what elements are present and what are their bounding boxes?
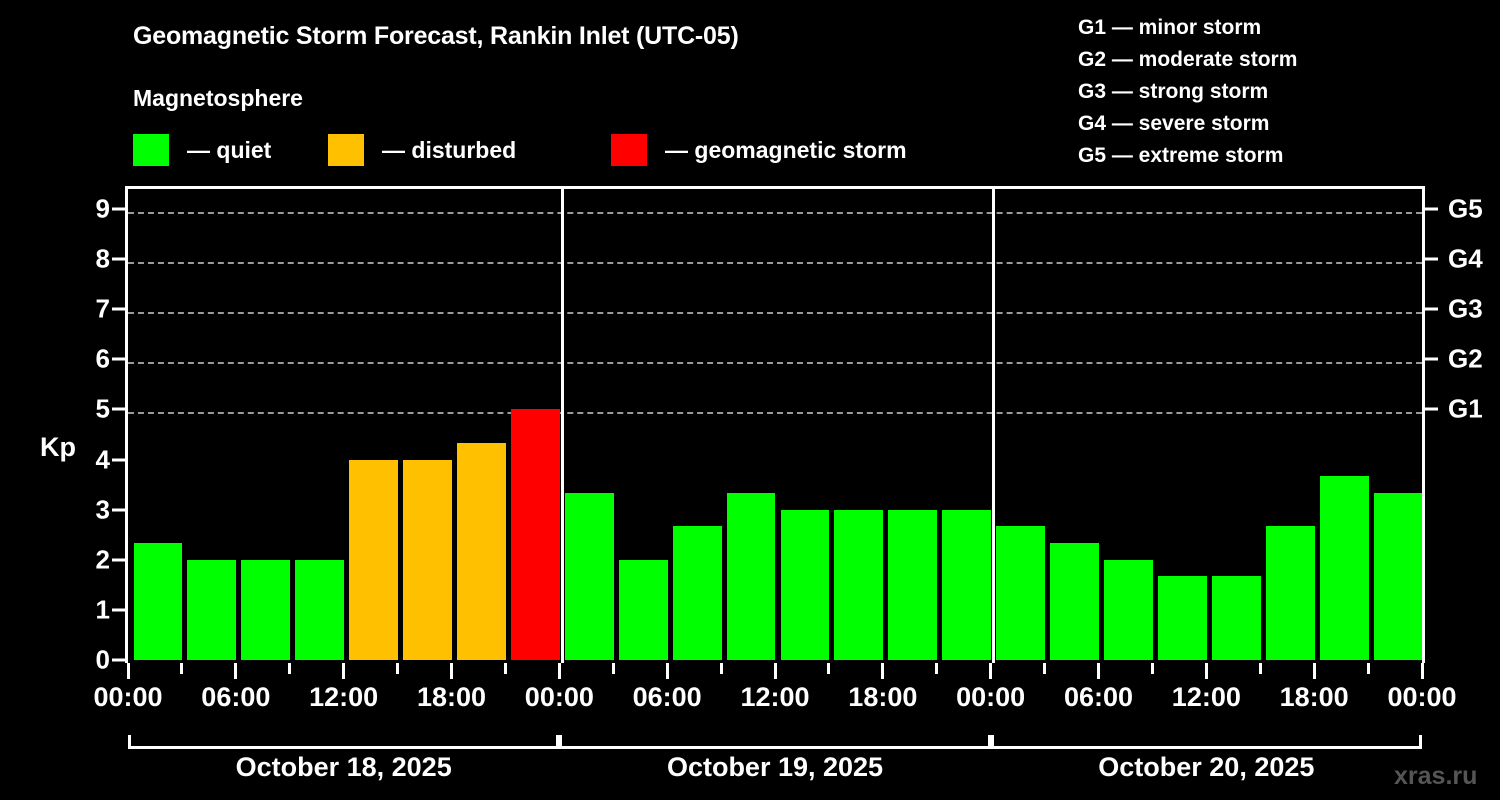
x-tick-9 bbox=[612, 663, 615, 674]
day-separator-1 bbox=[992, 189, 995, 663]
x-tick-label-0: 00:00 bbox=[93, 682, 162, 713]
x-tick-label-12: 00:00 bbox=[1387, 682, 1456, 713]
x-tick-4 bbox=[342, 663, 345, 679]
y-tick-mark-8 bbox=[112, 258, 125, 261]
y-tick-mark-4 bbox=[112, 458, 125, 461]
bar-16[interactable] bbox=[996, 526, 1045, 660]
x-tick-label-10: 12:00 bbox=[1172, 682, 1241, 713]
day-separator-0 bbox=[561, 189, 564, 663]
y-tick-mark-5 bbox=[112, 408, 125, 411]
x-tick-16 bbox=[989, 663, 992, 679]
y-tick-mark-3 bbox=[112, 508, 125, 511]
chart-plot-area bbox=[125, 186, 1425, 663]
bar-17[interactable] bbox=[1050, 543, 1099, 660]
x-tick-label-2: 12:00 bbox=[309, 682, 378, 713]
bar-7[interactable] bbox=[511, 409, 560, 660]
x-tick-5 bbox=[396, 663, 399, 674]
bar-20[interactable] bbox=[1212, 576, 1261, 660]
bar-1[interactable] bbox=[187, 560, 236, 660]
y-tick-label-7: 7 bbox=[50, 294, 110, 325]
x-tick-24 bbox=[1421, 663, 1424, 679]
kp-legend-item-0: — quiet bbox=[133, 133, 271, 167]
bar-22[interactable] bbox=[1320, 476, 1369, 660]
x-tick-22 bbox=[1313, 663, 1316, 679]
x-tick-0 bbox=[127, 663, 130, 679]
g-legend-row-1: G2 — moderate storm bbox=[1078, 44, 1297, 76]
g-tick-label-G1: G1 bbox=[1448, 394, 1483, 425]
y-tick-mark-0 bbox=[112, 659, 125, 662]
x-tick-8 bbox=[558, 663, 561, 679]
y-tick-label-5: 5 bbox=[50, 394, 110, 425]
y-tick-label-9: 9 bbox=[50, 194, 110, 225]
gridline-kp-7 bbox=[128, 312, 1422, 314]
bar-21[interactable] bbox=[1266, 526, 1315, 660]
gridline-kp-9 bbox=[128, 212, 1422, 214]
gridline-kp-6 bbox=[128, 362, 1422, 364]
x-tick-label-3: 18:00 bbox=[417, 682, 486, 713]
bar-11[interactable] bbox=[727, 493, 776, 660]
bar-12[interactable] bbox=[781, 510, 830, 660]
plot-inner bbox=[128, 189, 1422, 663]
g-tick-mark-G1 bbox=[1425, 408, 1438, 411]
day-labels: October 18, 2025October 19, 2025October … bbox=[0, 752, 1500, 792]
bar-9[interactable] bbox=[619, 560, 668, 660]
g-legend-row-4: G5 — extreme storm bbox=[1078, 140, 1297, 172]
x-tick-label-6: 12:00 bbox=[740, 682, 809, 713]
x-tick-20 bbox=[1205, 663, 1208, 679]
x-axis-ticks bbox=[125, 663, 1428, 679]
g-legend-row-3: G4 — severe storm bbox=[1078, 108, 1297, 140]
kp-legend-swatch-icon-1 bbox=[328, 134, 364, 166]
x-tick-23 bbox=[1367, 663, 1370, 674]
x-tick-19 bbox=[1151, 663, 1154, 674]
kp-legend-swatch-icon-2 bbox=[611, 134, 647, 166]
day-bracket-1 bbox=[559, 735, 990, 749]
g-tick-label-G4: G4 bbox=[1448, 244, 1483, 275]
x-tick-21 bbox=[1259, 663, 1262, 674]
x-tick-label-8: 00:00 bbox=[956, 682, 1025, 713]
subtitle-magnetosphere: Magnetosphere bbox=[133, 85, 303, 112]
bar-23[interactable] bbox=[1374, 493, 1423, 660]
kp-legend-label-2: — geomagnetic storm bbox=[665, 137, 907, 164]
y-tick-mark-2 bbox=[112, 558, 125, 561]
x-tick-1 bbox=[180, 663, 183, 674]
kp-legend-label-0: — quiet bbox=[187, 137, 271, 164]
x-tick-label-7: 18:00 bbox=[848, 682, 917, 713]
g-tick-label-G2: G2 bbox=[1448, 344, 1483, 375]
bar-8[interactable] bbox=[565, 493, 614, 660]
y-tick-mark-7 bbox=[112, 308, 125, 311]
kp-legend-label-1: — disturbed bbox=[382, 137, 516, 164]
bar-6[interactable] bbox=[457, 443, 506, 660]
day-label-1: October 19, 2025 bbox=[667, 752, 883, 783]
g-tick-mark-G3 bbox=[1425, 308, 1438, 311]
g-tick-mark-G5 bbox=[1425, 208, 1438, 211]
day-bracket-0 bbox=[128, 735, 559, 749]
kp-legend-item-1: — disturbed bbox=[328, 133, 516, 167]
bar-19[interactable] bbox=[1158, 576, 1207, 660]
g-tick-label-G5: G5 bbox=[1448, 194, 1483, 225]
x-tick-10 bbox=[666, 663, 669, 679]
y-tick-label-6: 6 bbox=[50, 344, 110, 375]
bar-4[interactable] bbox=[349, 460, 398, 660]
day-label-0: October 18, 2025 bbox=[236, 752, 452, 783]
g-legend-row-0: G1 — minor storm bbox=[1078, 12, 1297, 44]
bar-3[interactable] bbox=[295, 560, 344, 660]
x-tick-6 bbox=[450, 663, 453, 679]
x-tick-2 bbox=[234, 663, 237, 679]
x-tick-13 bbox=[827, 663, 830, 674]
bar-0[interactable] bbox=[134, 543, 183, 660]
gridline-kp-5 bbox=[128, 412, 1422, 414]
y-tick-mark-1 bbox=[112, 608, 125, 611]
y-tick-label-1: 1 bbox=[50, 594, 110, 625]
x-tick-14 bbox=[881, 663, 884, 679]
x-axis-labels: 00:0006:0012:0018:0000:0006:0012:0018:00… bbox=[0, 682, 1500, 718]
y-axis-title: Kp bbox=[40, 432, 76, 463]
bar-14[interactable] bbox=[888, 510, 937, 660]
y-tick-label-0: 0 bbox=[50, 645, 110, 676]
bar-15[interactable] bbox=[942, 510, 991, 660]
x-tick-3 bbox=[288, 663, 291, 674]
x-tick-17 bbox=[1043, 663, 1046, 674]
bar-13[interactable] bbox=[834, 510, 883, 660]
gridline-kp-8 bbox=[128, 262, 1422, 264]
g-tick-mark-G2 bbox=[1425, 358, 1438, 361]
y-tick-mark-6 bbox=[112, 358, 125, 361]
g-legend-row-2: G3 — strong storm bbox=[1078, 76, 1297, 108]
x-tick-label-5: 06:00 bbox=[633, 682, 702, 713]
bar-5[interactable] bbox=[403, 460, 452, 660]
day-brackets bbox=[125, 735, 1428, 753]
x-tick-18 bbox=[1097, 663, 1100, 679]
x-tick-11 bbox=[720, 663, 723, 674]
x-tick-12 bbox=[774, 663, 777, 679]
day-bracket-2 bbox=[991, 735, 1422, 749]
bar-2[interactable] bbox=[241, 560, 290, 660]
x-tick-label-9: 06:00 bbox=[1064, 682, 1133, 713]
kp-legend-swatch-icon-0 bbox=[133, 134, 169, 166]
x-tick-label-11: 18:00 bbox=[1280, 682, 1349, 713]
g-tick-label-G3: G3 bbox=[1448, 294, 1483, 325]
bar-10[interactable] bbox=[673, 526, 722, 660]
g-tick-mark-G4 bbox=[1425, 258, 1438, 261]
day-label-2: October 20, 2025 bbox=[1098, 752, 1314, 783]
x-tick-label-4: 00:00 bbox=[525, 682, 594, 713]
y-tick-mark-9 bbox=[112, 208, 125, 211]
y-tick-label-3: 3 bbox=[50, 494, 110, 525]
g-scale-legend: G1 — minor stormG2 — moderate stormG3 — … bbox=[1078, 12, 1297, 172]
x-tick-label-1: 06:00 bbox=[201, 682, 270, 713]
page-title: Geomagnetic Storm Forecast, Rankin Inlet… bbox=[133, 22, 739, 51]
watermark: xras.ru bbox=[1394, 762, 1477, 791]
y-tick-label-2: 2 bbox=[50, 544, 110, 575]
x-tick-15 bbox=[935, 663, 938, 674]
x-tick-7 bbox=[504, 663, 507, 674]
bar-18[interactable] bbox=[1104, 560, 1153, 660]
y-tick-label-8: 8 bbox=[50, 244, 110, 275]
kp-legend-item-2: — geomagnetic storm bbox=[611, 133, 907, 167]
